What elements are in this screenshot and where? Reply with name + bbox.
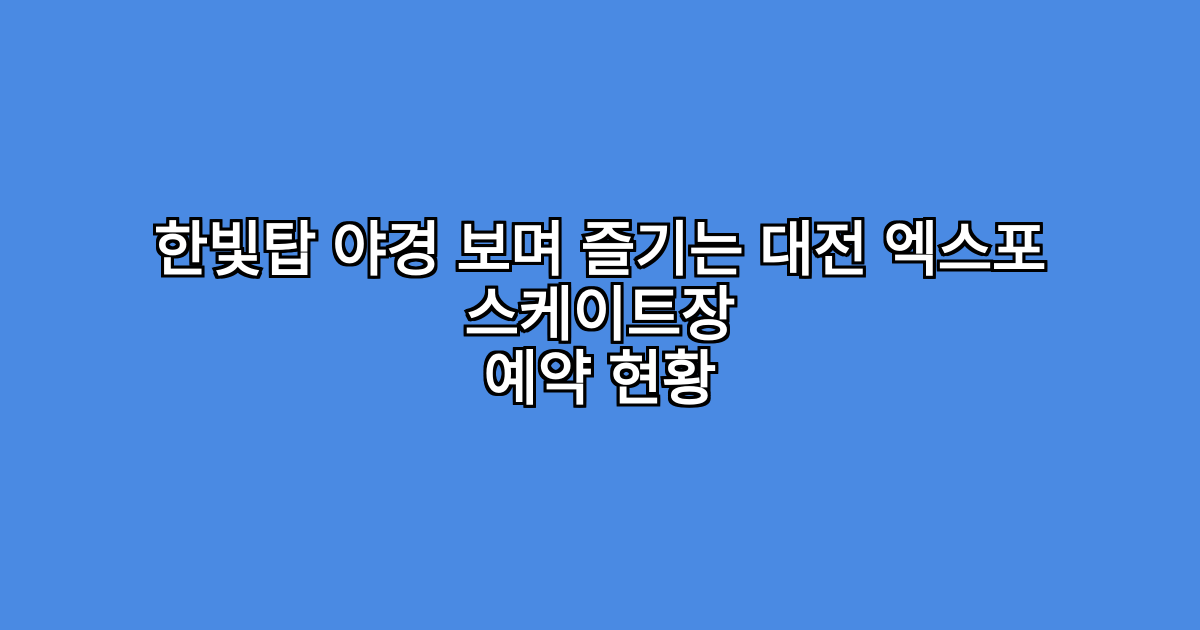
page-title-line-2: 예약 현황 bbox=[484, 346, 717, 412]
page-title-line-1: 한빛탑 야경 보며 즐기는 대전 엑스포 스케이트장 bbox=[154, 217, 1046, 348]
page-title: 한빛탑 야경 보며 즐기는 대전 엑스포 스케이트장예약 현황 bbox=[65, 218, 1135, 413]
title-block: 한빛탑 야경 보며 즐기는 대전 엑스포 스케이트장예약 현황 bbox=[65, 218, 1135, 413]
og-card-canvas: 한빛탑 야경 보며 즐기는 대전 엑스포 스케이트장예약 현황 bbox=[0, 0, 1200, 630]
